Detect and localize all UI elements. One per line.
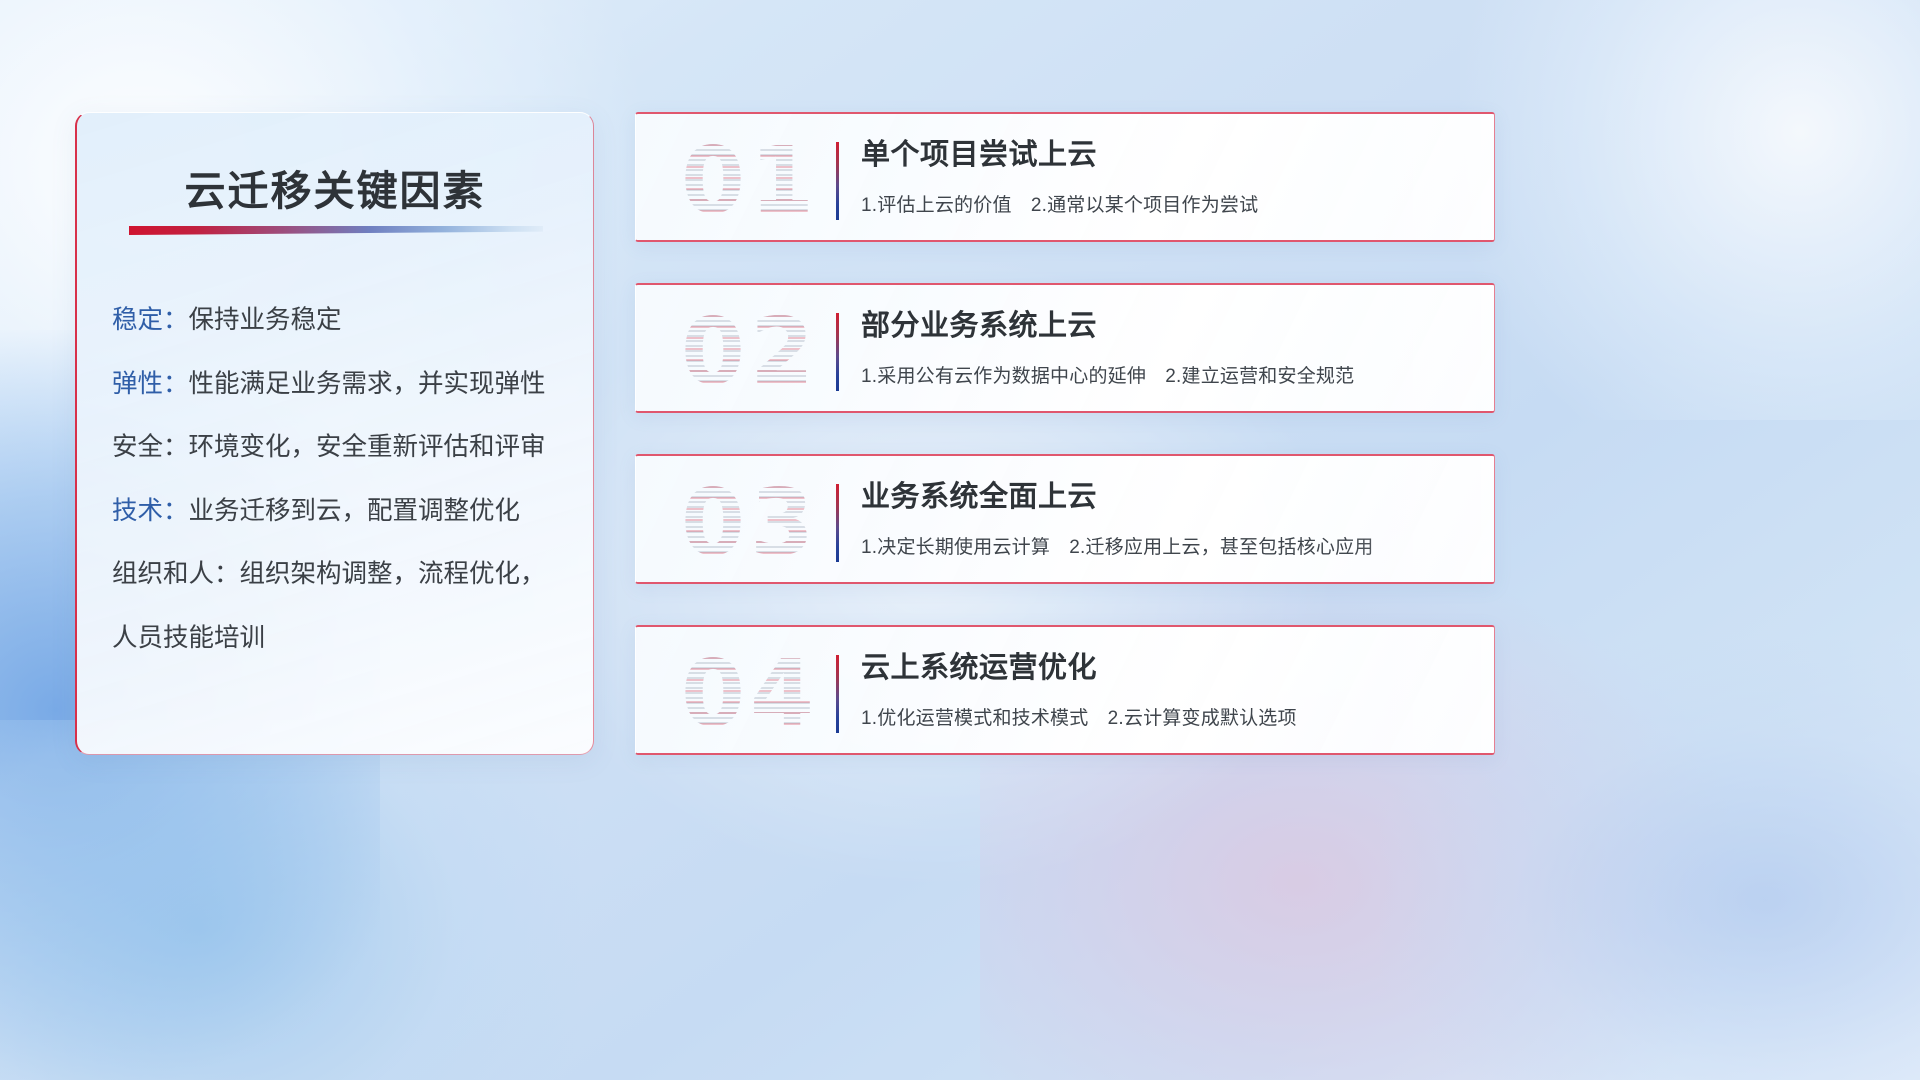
divider-bar: [836, 655, 839, 733]
stage-subtitle: 1.决定长期使用云计算 2.迁移应用上云，甚至包括核心应用: [861, 532, 1468, 559]
stage-title: 业务系统全面上云: [861, 480, 1468, 515]
list-item-value: 人员技能培训: [112, 624, 265, 652]
stage-number-glitch-overlay: 04: [660, 637, 840, 749]
stage-subtitle: 1.评估上云的价值 2.通常以某个项目作为尝试: [861, 190, 1468, 217]
stage-number-glitch-overlay: 01: [660, 124, 840, 236]
divider-bar: [836, 484, 839, 562]
stage-card-body: 云上系统运营优化 1.优化运营模式和技术模式 2.云计算变成默认选项: [861, 651, 1468, 730]
stage-card[interactable]: 04 04 云上系统运营优化 1.优化运营模式和技术模式 2.云计算变成默认选项: [635, 625, 1495, 755]
stage-card-body: 部分业务系统上云 1.采用公有云作为数据中心的延伸 2.建立运营和安全规范: [861, 309, 1468, 388]
stage-subtitle: 1.采用公有云作为数据中心的延伸 2.建立运营和安全规范: [861, 361, 1468, 388]
list-item-continuation: 人员技能培训: [112, 626, 575, 652]
list-item-value: 保持业务稳定: [189, 306, 342, 334]
stage-card[interactable]: 03 03 业务系统全面上云 1.决定长期使用云计算 2.迁移应用上云，甚至包括…: [635, 454, 1495, 584]
list-item-key: 安全：: [112, 433, 189, 461]
background-glow-top-right: [1460, 0, 1920, 420]
list-item-value: 环境变化，安全重新评估和评审: [189, 433, 546, 461]
stage-card[interactable]: 01 01 单个项目尝试上云 1.评估上云的价值 2.通常以某个项目作为尝试: [635, 112, 1495, 242]
key-factors-list: 稳定：保持业务稳定 弹性：性能满足业务需求，并实现弹性 安全：环境变化，安全重新…: [112, 308, 575, 651]
list-item-key: 弹性：: [112, 370, 189, 398]
list-item: 稳定：保持业务稳定: [112, 308, 575, 334]
stage-title: 单个项目尝试上云: [861, 138, 1468, 173]
stage-cards-list: 01 01 单个项目尝试上云 1.评估上云的价值 2.通常以某个项目作为尝试 0…: [635, 112, 1495, 796]
list-item-key: 稳定：: [112, 306, 189, 334]
list-item-value: 组织架构调整，流程优化，: [240, 560, 546, 588]
key-factors-panel: 云迁移关键因素 稳定：保持业务稳定 弹性：性能满足业务需求，并实现弹性 安全：环…: [75, 112, 594, 755]
stage-title: 云上系统运营优化: [861, 651, 1468, 686]
stage-card[interactable]: 02 02 部分业务系统上云 1.采用公有云作为数据中心的延伸 2.建立运营和安…: [635, 283, 1495, 413]
list-item: 技术：业务迁移到云，配置调整优化: [112, 499, 575, 525]
page-title: 云迁移关键因素: [77, 157, 593, 217]
divider-bar: [836, 142, 839, 220]
stage-subtitle: 1.优化运营模式和技术模式 2.云计算变成默认选项: [861, 703, 1468, 730]
list-item-key: 组织和人：: [112, 560, 240, 588]
stage-card-body: 单个项目尝试上云 1.评估上云的价值 2.通常以某个项目作为尝试: [861, 138, 1468, 217]
title-underline-accent: [129, 226, 543, 235]
stage-card-body: 业务系统全面上云 1.决定长期使用云计算 2.迁移应用上云，甚至包括核心应用: [861, 480, 1468, 559]
list-item: 组织和人：组织架构调整，流程优化，: [112, 562, 575, 588]
list-item-value: 业务迁移到云，配置调整优化: [189, 497, 521, 525]
stage-number-glitch-overlay: 02: [660, 295, 840, 407]
list-item: 安全：环境变化，安全重新评估和评审: [112, 435, 575, 461]
list-item-key: 技术：: [112, 497, 189, 525]
list-item-value: 性能满足业务需求，并实现弹性: [189, 370, 546, 398]
stage-number-glitch-overlay: 03: [660, 466, 840, 578]
stage-title: 部分业务系统上云: [861, 309, 1468, 344]
divider-bar: [836, 313, 839, 391]
list-item: 弹性：性能满足业务需求，并实现弹性: [112, 372, 575, 398]
background-glow-bottom-left: [0, 720, 580, 1080]
